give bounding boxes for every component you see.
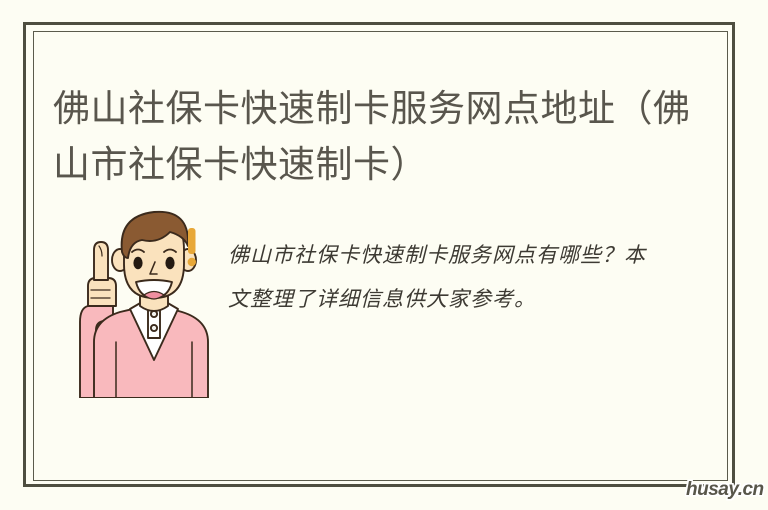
exclamation-icon (188, 228, 196, 266)
page-title: 佛山社保卡快速制卡服务网点地址（佛山市社保卡快速制卡） (53, 81, 693, 193)
article-card: 佛山社保卡快速制卡服务网点地址（佛山市社保卡快速制卡） (0, 0, 768, 510)
pointing-person-illustration (58, 202, 218, 398)
article-summary: 佛山市社保卡快速制卡服务网点有哪些？本文整理了详细信息供大家参考。 (228, 233, 658, 321)
summary-block: 佛山市社保卡快速制卡服务网点有哪些？本文整理了详细信息供大家参考。 (53, 200, 693, 400)
watermark: husay.cn (686, 479, 764, 501)
